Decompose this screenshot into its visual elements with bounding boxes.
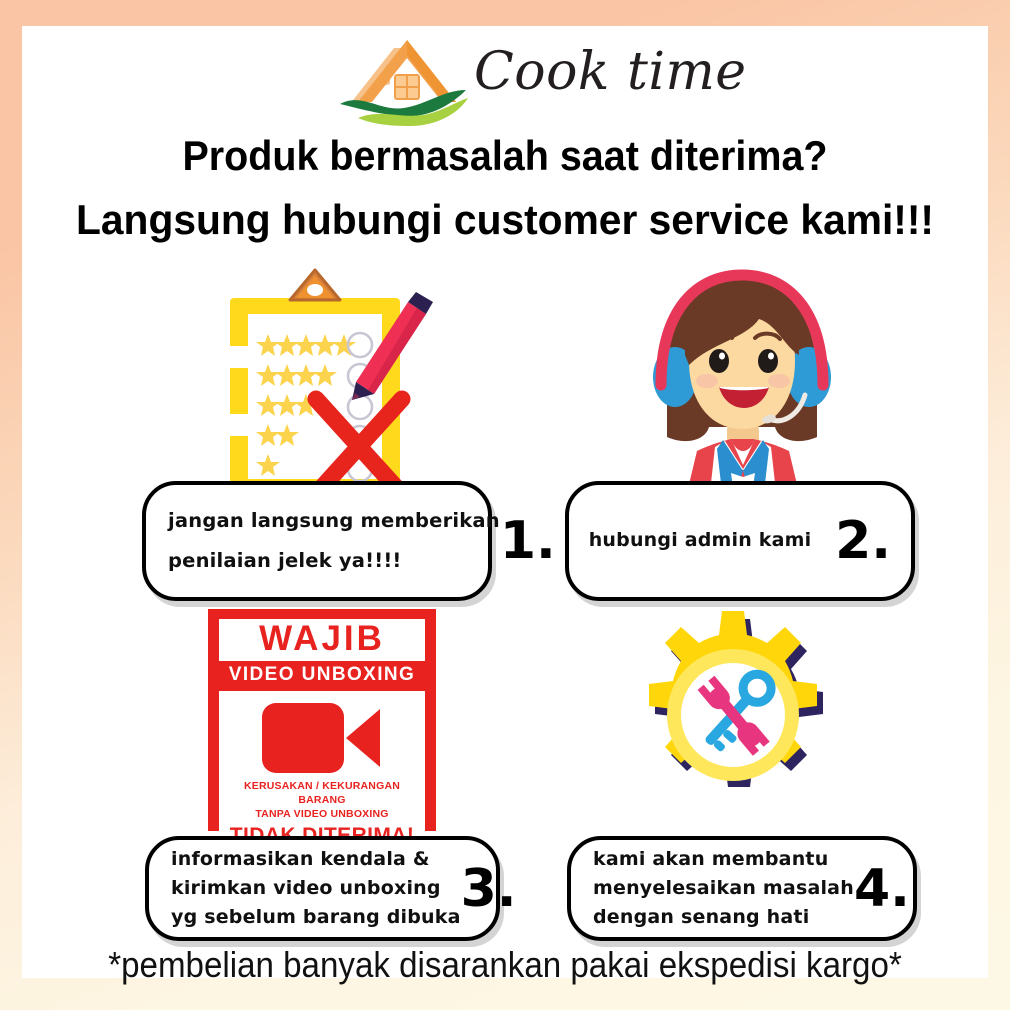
step-1-line-2: penilaian jelek ya!!!! bbox=[168, 541, 500, 581]
wajib-video-unboxing-sign: WAJIB VIDEO UNBOXING KERUSAKAN / KEKURAN… bbox=[208, 609, 436, 831]
poster-canvas: Cook time Produk bermasalah saat diterim… bbox=[22, 26, 988, 978]
step-3-line-1: informasikan kendala & bbox=[171, 845, 461, 874]
step-4-text: kami akan membantu menyelesaikan masalah… bbox=[571, 845, 854, 932]
step-4-line-3: dengan senang hati bbox=[593, 903, 854, 932]
headline-line-1: Produk bermasalah saat diterima? bbox=[51, 132, 959, 180]
brand-name: Cook time bbox=[474, 42, 747, 102]
step-1-text: jangan langsung memberikan penilaian jel… bbox=[146, 501, 500, 581]
wajib-body: KERUSAKAN / KEKURANGAN BARANG TANPA VIDE… bbox=[219, 691, 425, 841]
step-4-callout: kami akan membantu menyelesaikan masalah… bbox=[567, 836, 917, 941]
step-3-line-2: kirimkan video unboxing bbox=[171, 874, 461, 903]
headline-line-2: Langsung hubungi customer service kami!!… bbox=[36, 196, 973, 244]
customer-service-agent-illustration bbox=[627, 269, 857, 501]
step-2-text: hubungi admin kami bbox=[569, 526, 835, 555]
step-2-line-1: hubungi admin kami bbox=[569, 526, 831, 555]
wajib-title: WAJIB bbox=[219, 621, 425, 658]
step-3-callout: informasikan kendala & kirimkan video un… bbox=[145, 836, 500, 941]
step-4-line-1: kami akan membantu bbox=[593, 845, 854, 874]
wajib-fine-line-1: KERUSAKAN / KEKURANGAN BARANG bbox=[219, 779, 425, 807]
footer-note: *pembelian banyak disarankan pakai ekspe… bbox=[61, 944, 950, 986]
rating-clipboard-with-red-x-illustration bbox=[212, 266, 462, 501]
step-1-callout: jangan langsung memberikan penilaian jel… bbox=[142, 481, 492, 601]
house-roof-logo-icon bbox=[332, 32, 482, 130]
step-2-number: 2. bbox=[835, 515, 911, 567]
step-3-number: 3. bbox=[461, 863, 537, 915]
step-4-line-2: menyelesaikan masalah bbox=[593, 874, 854, 903]
wajib-title-band: WAJIB bbox=[219, 619, 425, 661]
gear-with-tools-illustration bbox=[630, 611, 852, 833]
step-4-number: 4. bbox=[854, 863, 930, 915]
poster-frame: Cook time Produk bermasalah saat diterim… bbox=[0, 0, 1010, 1010]
step-1-line-1: jangan langsung memberikan bbox=[168, 501, 500, 541]
brand-header: Cook time bbox=[22, 26, 988, 132]
step-2-callout: hubungi admin kami 2. bbox=[565, 481, 915, 601]
wajib-fine-line-2: TANPA VIDEO UNBOXING bbox=[219, 807, 425, 821]
step-3-line-3: yg sebelum barang dibuka bbox=[171, 903, 461, 932]
video-camera-icon bbox=[262, 703, 382, 773]
wajib-subtitle: VIDEO UNBOXING bbox=[211, 661, 433, 691]
step-3-text: informasikan kendala & kirimkan video un… bbox=[149, 845, 461, 932]
